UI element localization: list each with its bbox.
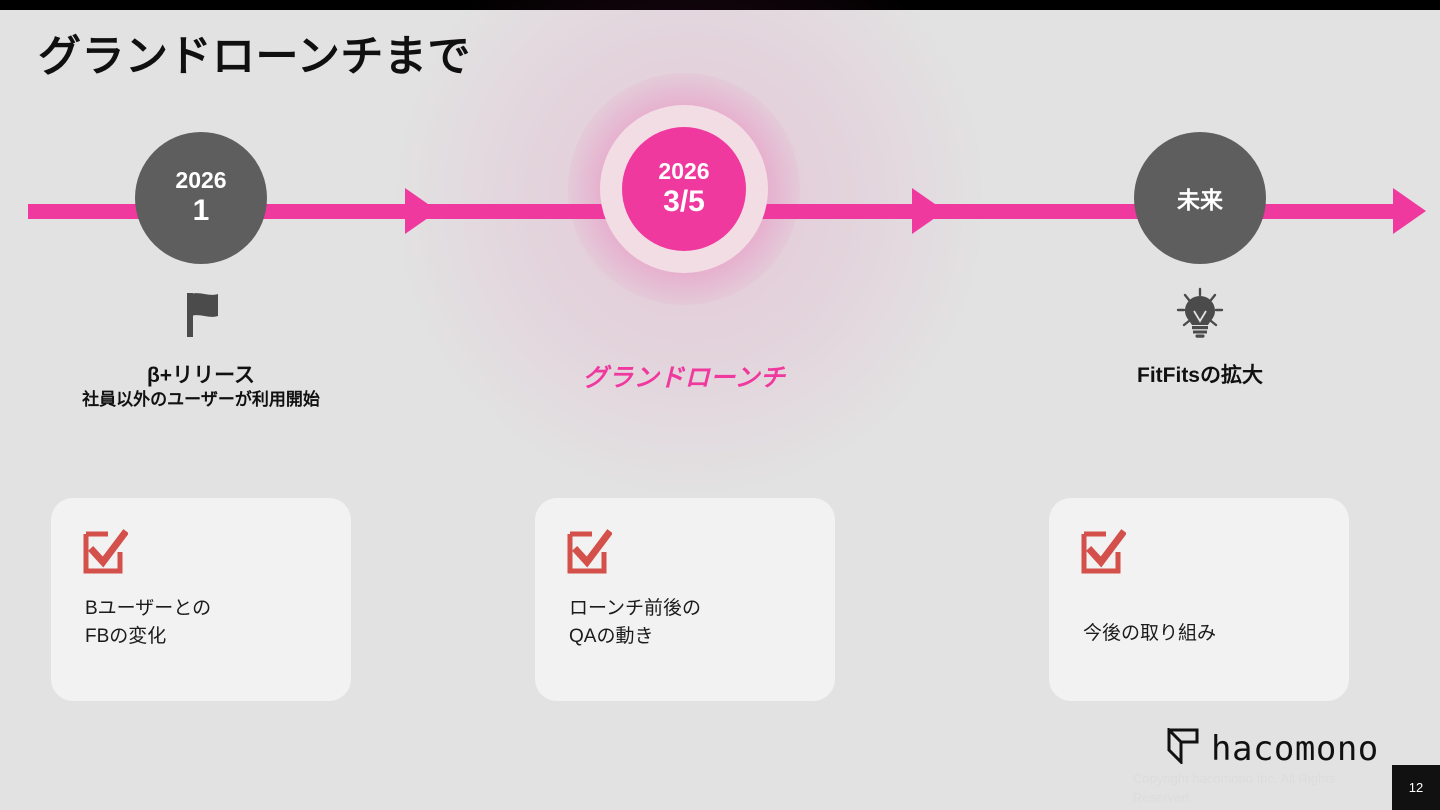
- timeline-label-beta-plus-release: β+リリース 社員以外のユーザーが利用開始: [0, 362, 411, 412]
- card-text: Bユーザーとの FBの変化: [85, 595, 211, 650]
- label-main: FitFitsの拡大: [990, 362, 1410, 389]
- checkbox-checked-icon: [1080, 528, 1126, 579]
- label-main: グランドローンチ: [474, 362, 894, 395]
- node-year: 2026: [175, 168, 226, 194]
- timeline-arrow-2-icon: [912, 188, 945, 234]
- hacomono-mark-icon: [1166, 728, 1200, 769]
- checkbox-checked-icon: [566, 528, 612, 579]
- node-date: 3/5: [663, 185, 705, 219]
- node-circle: 2026 3/5: [622, 127, 746, 251]
- timeline-label-fitfits-expansion: FitFitsの拡大: [990, 362, 1410, 389]
- node-date: 未来: [1177, 181, 1223, 215]
- label-sub: 社員以外のユーザーが利用開始: [0, 389, 411, 412]
- topic-card-launch-qa[interactable]: ローンチ前後の QAの動き: [535, 498, 835, 701]
- top-black-bar: [0, 0, 1440, 10]
- card-text: ローンチ前後の QAの動き: [569, 595, 701, 650]
- node-circle: 2026 1: [135, 132, 267, 264]
- page-number: 12: [1392, 765, 1440, 810]
- hacomono-logo: hacomono: [1166, 728, 1379, 769]
- flag-icon: [135, 290, 267, 340]
- checkbox-checked-icon: [82, 528, 128, 579]
- topic-card-future-initiatives[interactable]: 今後の取り組み: [1049, 498, 1349, 701]
- lightbulb-icon: [1134, 286, 1266, 340]
- label-main: β+リリース: [0, 362, 411, 389]
- node-date: 1: [193, 194, 210, 228]
- slide: グランドローンチまで 2026 1 β+リリース 社員以外のユーザーが利用開始: [0, 0, 1440, 810]
- copyright-text: Copyright hacomono Inc. All Rights Reser…: [1133, 770, 1358, 808]
- timeline-node-fitfits-expansion[interactable]: 未来: [1134, 132, 1266, 264]
- timeline-label-grand-launch: グランドローンチ: [474, 362, 894, 395]
- timeline-arrow-end-icon: [1393, 188, 1426, 234]
- timeline-node-grand-launch[interactable]: 2026 3/5: [600, 105, 768, 273]
- node-circle: 未来: [1134, 132, 1266, 264]
- card-text: 今後の取り組み: [1083, 620, 1216, 648]
- node-year: 2026: [658, 159, 709, 185]
- topic-cards: Bユーザーとの FBの変化 ローンチ前後の QAの動き 今後の取り組み: [0, 498, 1440, 703]
- topic-card-b-user-feedback[interactable]: Bユーザーとの FBの変化: [51, 498, 351, 701]
- timeline-node-beta-plus-release[interactable]: 2026 1: [135, 132, 267, 264]
- timeline-arrow-1-icon: [405, 188, 438, 234]
- timeline: 2026 1 β+リリース 社員以外のユーザーが利用開始 2026 3/5 グラ…: [0, 150, 1440, 450]
- page-title: グランドローンチまで: [38, 22, 471, 84]
- hacomono-logo-text: hacomono: [1211, 729, 1379, 769]
